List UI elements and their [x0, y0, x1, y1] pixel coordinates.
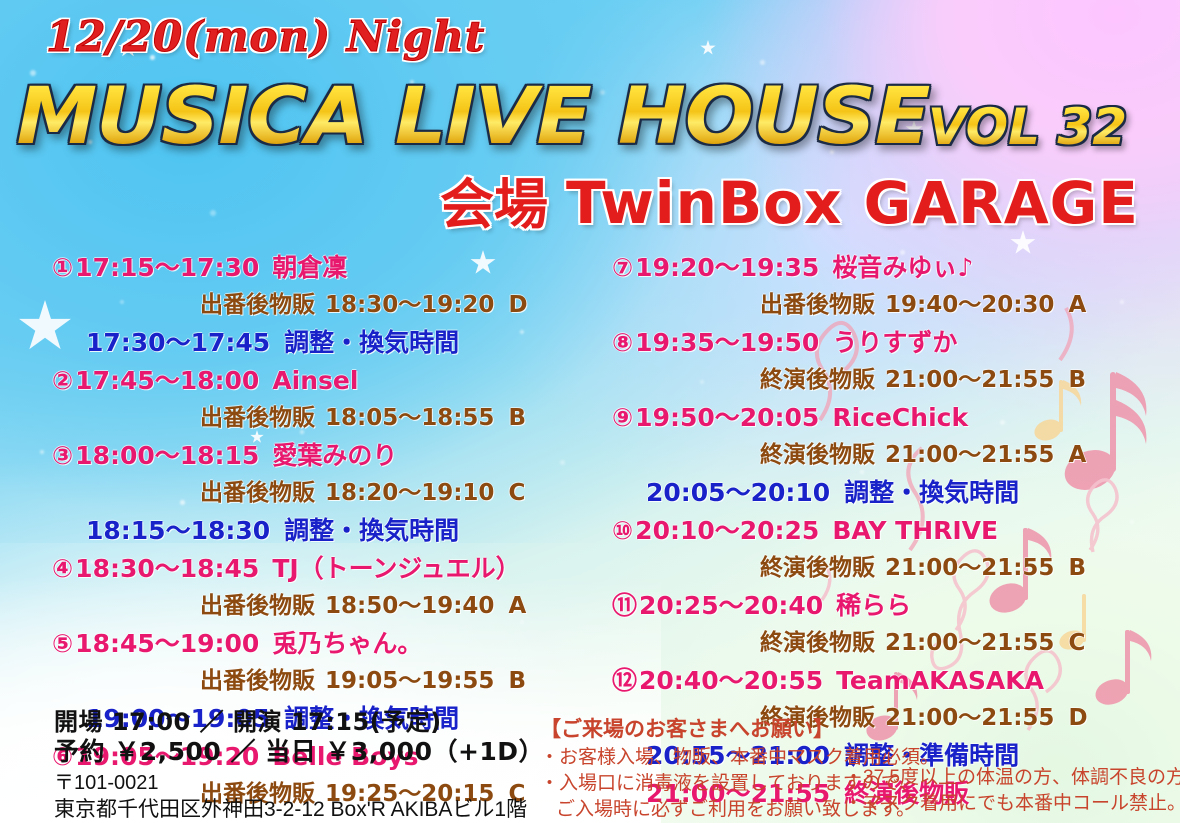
act-number: ⑦ — [612, 255, 633, 280]
schedule-act-row: ⑪20:25〜20:40稀らら — [612, 586, 1172, 625]
merch-time: 21:00〜21:55 — [885, 632, 1054, 655]
act-name: 愛葉みのり — [272, 443, 397, 468]
break-label: 調整・換気時間 — [284, 518, 459, 543]
poster-header: 12/20(mon) Night MUSICA LIVE HOUSE VOL 3… — [0, 0, 1180, 240]
act-name: Ainsel — [272, 368, 358, 393]
merch-label: 出番後物販 — [200, 482, 315, 505]
notice-column-a: ・お客様入場、物販、本番中マスク着用必須。・入場口に消毒液を設置しておりますので… — [540, 745, 840, 822]
notice-line: ・マスク着用にでも本番中コール禁止。 — [844, 791, 1180, 817]
break-time: 20:05〜20:10 — [646, 480, 830, 505]
merch-slot: C — [1068, 632, 1085, 655]
act-time: 20:40〜20:55 — [639, 668, 823, 693]
postal-code: 〒101-0021 — [54, 770, 574, 796]
act-name: 朝倉凜 — [272, 255, 347, 280]
act-number: ① — [52, 255, 73, 280]
act-time: 17:15〜17:30 — [75, 255, 259, 280]
act-name: 稀らら — [836, 593, 911, 618]
act-time: 17:45〜18:00 — [75, 368, 259, 393]
merch-label: 出番後物販 — [200, 294, 315, 317]
merch-slot: B — [1068, 557, 1086, 580]
schedule-break-row: 18:15〜18:30調整・換気時間 — [52, 511, 622, 549]
notice-block: 【ご来場のお客さまへお願い】 ・お客様入場、物販、本番中マスク着用必須。・入場口… — [540, 716, 1180, 822]
act-number: ② — [52, 368, 73, 393]
venue-name: TwinBox GARAGE — [566, 169, 1139, 237]
act-number: ⑩ — [612, 518, 633, 543]
schedule-merch-row: 終演後物販21:00〜21:55B — [612, 550, 1172, 586]
schedule-act-row: ②17:45〜18:00Ainsel — [52, 361, 622, 400]
merch-label: 出番後物販 — [200, 407, 315, 430]
act-name: TJ（トーンジュエル） — [272, 556, 520, 581]
notice-title: 【ご来場のお客さまへお願い】 — [540, 716, 1180, 743]
merch-time: 21:00〜21:55 — [885, 369, 1054, 392]
merch-time: 18:05〜18:55 — [325, 407, 494, 430]
notice-line: ・入場口に消毒液を設置しておりますので、 — [540, 771, 840, 797]
schedule: ①17:15〜17:30朝倉凜出番後物販18:30〜19:20D17:30〜17… — [0, 248, 1180, 688]
merch-label: 終演後物販 — [760, 369, 875, 392]
footer-info: 開場 17:00 ／ 開演 17:15(予定) 予約 ￥2,500 ／ 当日 ￥… — [54, 708, 574, 823]
schedule-merch-row: 出番後物販19:40〜20:30A — [612, 287, 1172, 323]
merch-time: 18:50〜19:40 — [325, 595, 494, 618]
event-date: 12/20(mon) Night — [46, 12, 485, 61]
merch-slot: B — [508, 670, 526, 693]
act-number: ④ — [52, 556, 73, 581]
schedule-act-row: ①17:15〜17:30朝倉凜 — [52, 248, 622, 287]
merch-label: 終演後物販 — [760, 444, 875, 467]
schedule-act-row: ⑩20:10〜20:25BAY THRIVE — [612, 511, 1172, 550]
schedule-break-row: 20:05〜20:10調整・換気時間 — [612, 473, 1172, 511]
venue-label: 会場 — [440, 160, 548, 239]
act-number: ⑨ — [612, 405, 633, 430]
act-number: ⑪ — [612, 593, 637, 618]
notice-columns: ・お客様入場、物販、本番中マスク着用必須。・入場口に消毒液を設置しておりますので… — [540, 745, 1180, 822]
break-label: 調整・換気時間 — [284, 330, 459, 355]
merch-label: 終演後物販 — [760, 632, 875, 655]
act-number: ⑤ — [52, 631, 73, 656]
merch-slot: A — [508, 595, 526, 618]
door-open-times: 開場 17:00 ／ 開演 17:15(予定) — [54, 708, 574, 737]
act-name: うりすずか — [832, 330, 957, 355]
schedule-break-row: 17:30〜17:45調整・換気時間 — [52, 323, 622, 361]
merch-slot: C — [508, 482, 525, 505]
act-time: 19:20〜19:35 — [635, 255, 819, 280]
merch-slot: A — [1068, 444, 1086, 467]
merch-time: 19:40〜20:30 — [885, 294, 1054, 317]
act-name: TeamAKASAKA — [836, 668, 1044, 693]
event-poster: 12/20(mon) Night MUSICA LIVE HOUSE VOL 3… — [0, 0, 1180, 823]
merch-slot: D — [508, 294, 527, 317]
schedule-merch-row: 出番後物販18:30〜19:20D — [52, 287, 622, 323]
act-number: ⑧ — [612, 330, 633, 355]
ticket-prices: 予約 ￥2,500 ／ 当日 ￥3,000（+1D） — [54, 737, 574, 768]
schedule-merch-row: 終演後物販21:00〜21:55C — [612, 625, 1172, 661]
venue-address: 東京都千代田区外神田3-2-12 Box'R AKIBAビル1階 — [54, 796, 574, 823]
act-name: 桜音みゆぃ♪ — [832, 255, 973, 280]
act-time: 18:30〜18:45 — [75, 556, 259, 581]
schedule-act-row: ④18:30〜18:45TJ（トーンジュエル） — [52, 549, 622, 588]
merch-time: 19:05〜19:55 — [325, 670, 494, 693]
notice-column-b: ・37.5度以上の体温の方、体調不良の方入場不可。・マスク着用にでも本番中コール… — [844, 745, 1180, 822]
schedule-merch-row: 出番後物販18:50〜19:40A — [52, 588, 622, 624]
merch-label: 出番後物販 — [760, 294, 875, 317]
merch-label: 出番後物販 — [200, 595, 315, 618]
act-name: BAY THRIVE — [832, 518, 998, 543]
break-label: 調整・換気時間 — [844, 480, 1019, 505]
act-time: 19:50〜20:05 — [635, 405, 819, 430]
event-title: MUSICA LIVE HOUSE — [16, 72, 929, 162]
act-name: RiceChick — [832, 405, 968, 430]
merch-label: 終演後物販 — [760, 557, 875, 580]
venue-row: 会場 TwinBox GARAGE — [440, 160, 1139, 239]
schedule-merch-row: 出番後物販19:05〜19:55B — [52, 663, 622, 699]
act-time: 20:10〜20:25 — [635, 518, 819, 543]
schedule-merch-row: 出番後物販18:05〜18:55B — [52, 400, 622, 436]
schedule-merch-row: 終演後物販21:00〜21:55A — [612, 437, 1172, 473]
event-volume: VOL 32 — [928, 98, 1127, 156]
schedule-act-row: ⑧19:35〜19:50うりすずか — [612, 323, 1172, 362]
event-title-row: MUSICA LIVE HOUSE VOL 32 — [34, 72, 1127, 162]
notice-line: ・37.5度以上の体温の方、体調不良の方入場不可。 — [844, 765, 1180, 791]
schedule-merch-row: 終演後物販21:00〜21:55B — [612, 362, 1172, 398]
merch-slot: A — [1068, 294, 1086, 317]
notice-line: ご入場時に必ずご利用をお願い致します。 — [540, 797, 840, 823]
notice-line: ・お客様入場、物販、本番中マスク着用必須。 — [540, 745, 840, 771]
schedule-act-row: ⑤18:45〜19:00兎乃ちゃん。 — [52, 624, 622, 663]
schedule-act-row: ⑫20:40〜20:55TeamAKASAKA — [612, 661, 1172, 700]
merch-time: 18:30〜19:20 — [325, 294, 494, 317]
merch-time: 21:00〜21:55 — [885, 444, 1054, 467]
break-time: 17:30〜17:45 — [86, 330, 270, 355]
schedule-act-row: ③18:00〜18:15愛葉みのり — [52, 436, 622, 475]
schedule-act-row: ⑦19:20〜19:35桜音みゆぃ♪ — [612, 248, 1172, 287]
merch-slot: B — [1068, 369, 1086, 392]
merch-time: 21:00〜21:55 — [885, 557, 1054, 580]
merch-slot: B — [508, 407, 526, 430]
act-name: 兎乃ちゃん。 — [272, 631, 422, 656]
schedule-act-row: ⑨19:50〜20:05RiceChick — [612, 398, 1172, 437]
merch-label: 出番後物販 — [200, 670, 315, 693]
act-time: 18:45〜19:00 — [75, 631, 259, 656]
act-time: 19:35〜19:50 — [635, 330, 819, 355]
act-number: ⑫ — [612, 668, 637, 693]
act-number: ③ — [52, 443, 73, 468]
merch-time: 18:20〜19:10 — [325, 482, 494, 505]
schedule-merch-row: 出番後物販18:20〜19:10C — [52, 475, 622, 511]
act-time: 20:25〜20:40 — [639, 593, 823, 618]
break-time: 18:15〜18:30 — [86, 518, 270, 543]
act-time: 18:00〜18:15 — [75, 443, 259, 468]
